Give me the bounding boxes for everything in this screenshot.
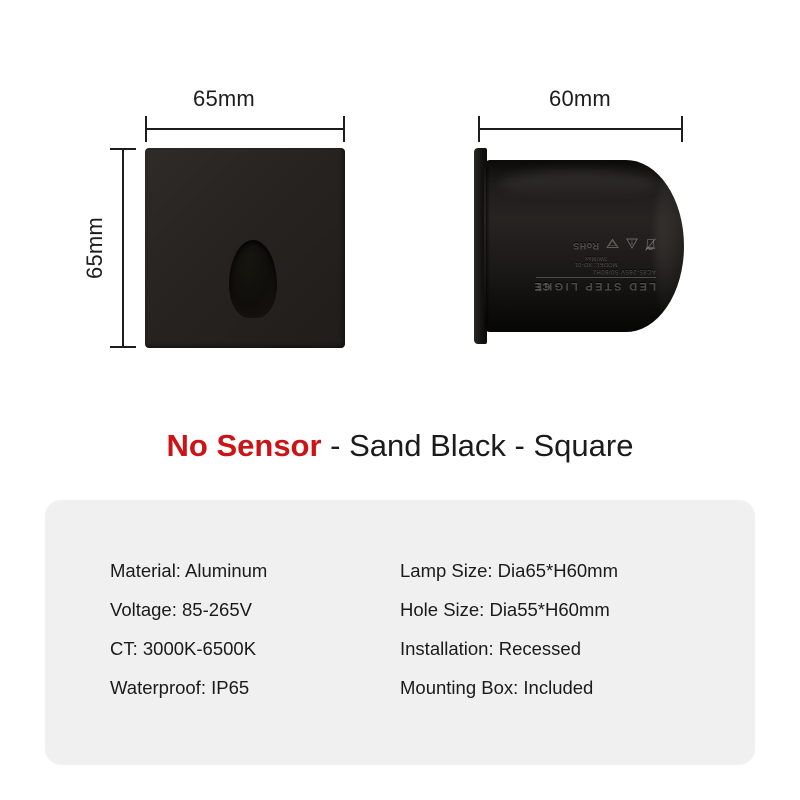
side-depth-dimension-label: 60mm <box>549 86 611 112</box>
cylinder-seam-shadow <box>486 167 490 325</box>
power-rating-text: 3W/Max <box>536 255 656 261</box>
spec-hole-size: Hole Size: Dia55*H60mm <box>390 599 710 621</box>
housing-printed-label: CE LED STEP LIGHT AC85-265V 50/60Hz MODE… <box>536 204 656 292</box>
cylinder-gloss-highlight <box>500 170 656 198</box>
warning-triangle-icon <box>626 238 638 249</box>
model-code-text: MODEL: XD-01 <box>536 261 656 267</box>
headline-finish-and-shape: - Sand Black - Square <box>322 428 634 463</box>
side-depth-dimension-cap-right <box>681 116 683 142</box>
square-faceplate-front-view <box>145 148 345 348</box>
headline-sensor-type: No Sensor <box>167 428 322 463</box>
front-width-dimension-label: 65mm <box>193 86 255 112</box>
product-gallery: 65mm 65mm 60mm CE LED STEP LIGHT AC85-26… <box>0 0 800 410</box>
spec-material: Material: Aluminum <box>110 560 390 582</box>
spec-installation: Installation: Recessed <box>390 638 710 660</box>
specifications-panel: Material: Aluminum Lamp Size: Dia65*H60m… <box>45 500 755 765</box>
specifications-grid: Material: Aluminum Lamp Size: Dia65*H60m… <box>110 560 710 699</box>
front-height-dimension-label: 65mm <box>82 217 108 279</box>
recycle-icon <box>606 238 619 249</box>
certification-symbol-row: RoHS <box>536 238 656 251</box>
front-width-dimension-cap-left <box>145 116 147 142</box>
ce-mark: CE <box>534 280 550 292</box>
brand-text: LED STEP LIGHT <box>536 280 656 292</box>
front-height-dimension-line <box>122 148 124 348</box>
spec-voltage: Voltage: 85-265V <box>110 599 390 621</box>
front-height-dimension-cap-bottom <box>110 346 136 348</box>
cylinder-housing: CE LED STEP LIGHT AC85-265V 50/60Hz MODE… <box>484 160 684 332</box>
spec-lamp-size: Lamp Size: Dia65*H60mm <box>390 560 710 582</box>
label-divider-rule <box>536 277 656 278</box>
voltage-rating-text: AC85-265V 50/60Hz <box>536 268 656 274</box>
rohs-mark: RoHS <box>573 241 599 251</box>
cylinder-body-side-view: CE LED STEP LIGHT AC85-265V 50/60Hz MODE… <box>474 148 689 344</box>
front-width-dimension-line <box>145 128 345 130</box>
side-depth-dimension-line <box>478 128 683 130</box>
spec-color-temperature: CT: 3000K-6500K <box>110 638 390 660</box>
front-width-dimension-cap-right <box>343 116 345 142</box>
front-height-dimension-cap-top <box>110 148 136 150</box>
spec-waterproof-rating: Waterproof: IP65 <box>110 677 390 699</box>
side-depth-dimension-cap-left <box>478 116 480 142</box>
cylinder-end-highlight <box>654 167 684 325</box>
variant-headline: No Sensor - Sand Black - Square <box>0 428 800 464</box>
spec-mounting-box: Mounting Box: Included <box>390 677 710 699</box>
weee-bin-icon <box>645 238 656 251</box>
